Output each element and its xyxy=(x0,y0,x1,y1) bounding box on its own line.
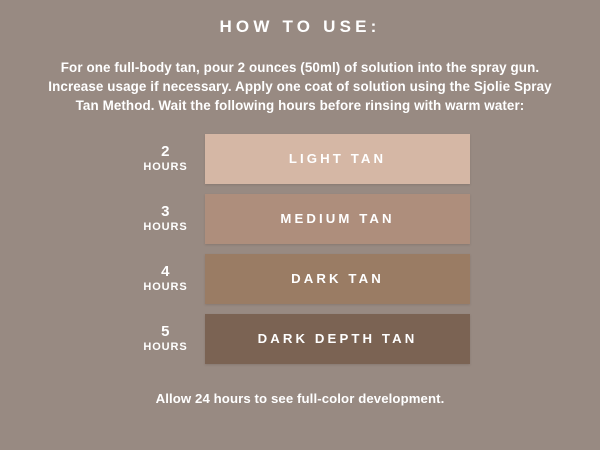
duration-unit: HOURS xyxy=(130,162,201,173)
footer-note: Allow 24 hours to see full-color develop… xyxy=(60,391,540,406)
duration-unit: HOURS xyxy=(130,222,201,233)
duration-label: 2 HOURS xyxy=(130,144,205,173)
intro-instructions: For one full-body tan, pour 2 ounces (50… xyxy=(42,58,558,115)
duration-value: 2 xyxy=(130,144,201,159)
tan-level-chart: 2 HOURS LIGHT TAN 3 HOURS MEDIUM TAN 4 H… xyxy=(130,134,470,364)
duration-unit: HOURS xyxy=(130,342,201,353)
tan-swatch-label: DARK TAN xyxy=(291,271,384,286)
duration-unit: HOURS xyxy=(130,282,201,293)
duration-label: 4 HOURS xyxy=(130,264,205,293)
tan-level-row: 2 HOURS LIGHT TAN xyxy=(130,134,470,184)
tan-level-row: 5 HOURS DARK DEPTH TAN xyxy=(130,314,470,364)
duration-value: 4 xyxy=(130,264,201,279)
duration-value: 5 xyxy=(130,324,201,339)
tan-swatch-label: LIGHT TAN xyxy=(289,151,386,166)
tan-swatch-label: DARK DEPTH TAN xyxy=(258,331,418,346)
tan-swatch-medium-tan: MEDIUM TAN xyxy=(205,194,470,244)
tan-swatch-light-tan: LIGHT TAN xyxy=(205,134,470,184)
tan-swatch-label: MEDIUM TAN xyxy=(280,211,394,226)
duration-label: 5 HOURS xyxy=(130,324,205,353)
duration-value: 3 xyxy=(130,204,201,219)
duration-label: 3 HOURS xyxy=(130,204,205,233)
page-title: HOW TO USE: xyxy=(219,18,380,37)
how-to-use-poster: HOW TO USE: For one full-body tan, pour … xyxy=(0,0,600,450)
tan-swatch-dark-tan: DARK TAN xyxy=(205,254,470,304)
tan-level-row: 3 HOURS MEDIUM TAN xyxy=(130,194,470,244)
tan-swatch-dark-depth-tan: DARK DEPTH TAN xyxy=(205,314,470,364)
tan-level-row: 4 HOURS DARK TAN xyxy=(130,254,470,304)
